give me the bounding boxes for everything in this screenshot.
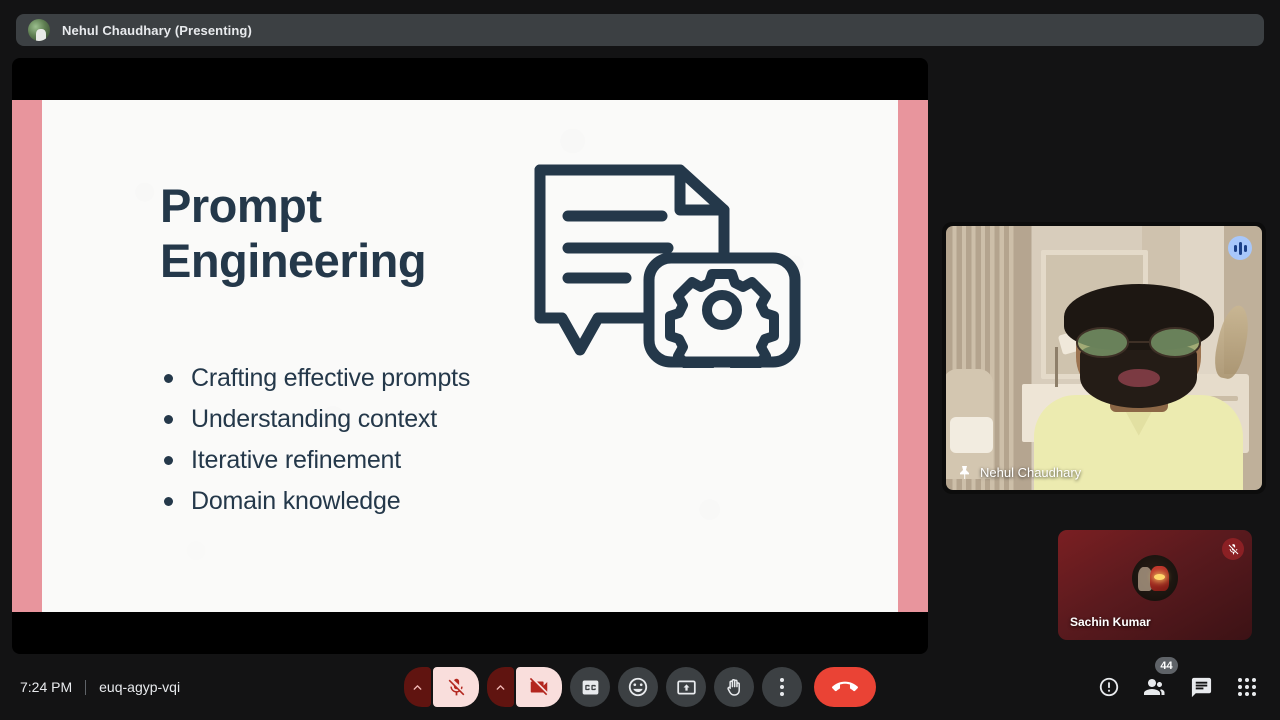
- divider: [85, 680, 86, 695]
- more-options-button[interactable]: [762, 667, 802, 707]
- slide-body: Prompt Engineering: [42, 100, 898, 612]
- list-item: Crafting effective prompts: [160, 358, 470, 399]
- list-item: Iterative refinement: [160, 440, 470, 481]
- bullet-dot-icon: [164, 456, 173, 465]
- activities-button[interactable]: [1232, 672, 1262, 702]
- speaking-indicator-icon: [1228, 236, 1252, 260]
- participant-name-badge: Nehul Chaudhary: [958, 465, 1081, 480]
- pin-icon: [958, 465, 971, 480]
- emoji-smile-icon: [627, 676, 649, 698]
- mic-off-icon: [1222, 538, 1244, 560]
- meeting-code: euq-agyp-vqi: [99, 679, 180, 695]
- avatar: [1132, 555, 1178, 601]
- bullet-text: Understanding context: [191, 399, 437, 440]
- bullet-text: Domain knowledge: [191, 481, 400, 522]
- chevron-up-icon: [494, 681, 507, 694]
- bullet-dot-icon: [164, 497, 173, 506]
- end-call-button[interactable]: [814, 667, 876, 707]
- participant-person: [1034, 284, 1243, 490]
- more-vertical-icon: [780, 678, 784, 696]
- raise-hand-button[interactable]: [714, 667, 754, 707]
- meeting-details-button[interactable]: [1094, 672, 1124, 702]
- camera-toggle[interactable]: [516, 667, 562, 707]
- bottom-control-bar: 7:24 PM euq-agyp-vqi: [0, 654, 1280, 720]
- camera-options[interactable]: [487, 667, 514, 707]
- people-icon: [1143, 675, 1167, 699]
- slide-accent-bar-right: [898, 100, 928, 612]
- participant-name: Nehul Chaudhary: [980, 465, 1081, 480]
- bullet-text: Crafting effective prompts: [191, 358, 470, 399]
- bullet-dot-icon: [164, 374, 173, 383]
- presenting-banner-title: Nehul Chaudhary (Presenting): [62, 23, 252, 38]
- document-speech-bubble-gear-icon: [532, 158, 802, 373]
- bullet-text: Iterative refinement: [191, 440, 401, 481]
- chat-icon: [1190, 676, 1213, 699]
- participant-tile-sachin-kumar[interactable]: Sachin Kumar: [1058, 530, 1252, 640]
- call-end-icon: [832, 674, 858, 700]
- participant-count-badge: 44: [1155, 657, 1178, 674]
- info-icon: [1098, 676, 1120, 698]
- participant-tile-nehul-chaudhary[interactable]: Nehul Chaudhary: [942, 222, 1266, 494]
- list-item: Understanding context: [160, 399, 470, 440]
- presenter-avatar: [28, 19, 50, 41]
- present-screen-icon: [676, 677, 697, 698]
- presentation-frame[interactable]: Prompt Engineering: [12, 58, 928, 654]
- participant-name: Sachin Kumar: [1070, 615, 1151, 629]
- apps-grid-icon: [1238, 678, 1256, 696]
- background-armchair: [946, 369, 993, 480]
- participant-video: Nehul Chaudhary: [946, 226, 1262, 490]
- chat-button[interactable]: [1186, 672, 1216, 702]
- reactions-button[interactable]: [618, 667, 658, 707]
- captions-toggle[interactable]: [570, 667, 610, 707]
- mic-off-icon: [446, 677, 467, 698]
- slide-bullet-list: Crafting effective prompts Understanding…: [160, 358, 470, 522]
- presenting-banner: Nehul Chaudhary (Presenting): [16, 14, 1264, 46]
- people-button[interactable]: 44: [1140, 672, 1170, 702]
- list-item: Domain knowledge: [160, 481, 470, 522]
- meeting-info: 7:24 PM euq-agyp-vqi: [20, 679, 180, 695]
- present-button[interactable]: [666, 667, 706, 707]
- microphone-options[interactable]: [404, 667, 431, 707]
- microphone-control[interactable]: [404, 667, 479, 707]
- bullet-dot-icon: [164, 415, 173, 424]
- slide: Prompt Engineering: [12, 100, 928, 612]
- slide-accent-bar-left: [12, 100, 42, 612]
- clock-time: 7:24 PM: [20, 679, 72, 695]
- camera-off-icon: [528, 676, 550, 698]
- closed-captions-icon: [580, 677, 601, 698]
- right-controls: 44: [1094, 672, 1262, 702]
- raised-hand-icon: [724, 677, 745, 698]
- camera-control[interactable]: [487, 667, 562, 707]
- google-meet-window: Nehul Chaudhary (Presenting) Prompt Engi…: [0, 0, 1280, 720]
- slide-title: Prompt Engineering: [160, 178, 500, 289]
- call-controls: [404, 667, 876, 707]
- chevron-up-icon: [411, 681, 424, 694]
- microphone-toggle[interactable]: [433, 667, 479, 707]
